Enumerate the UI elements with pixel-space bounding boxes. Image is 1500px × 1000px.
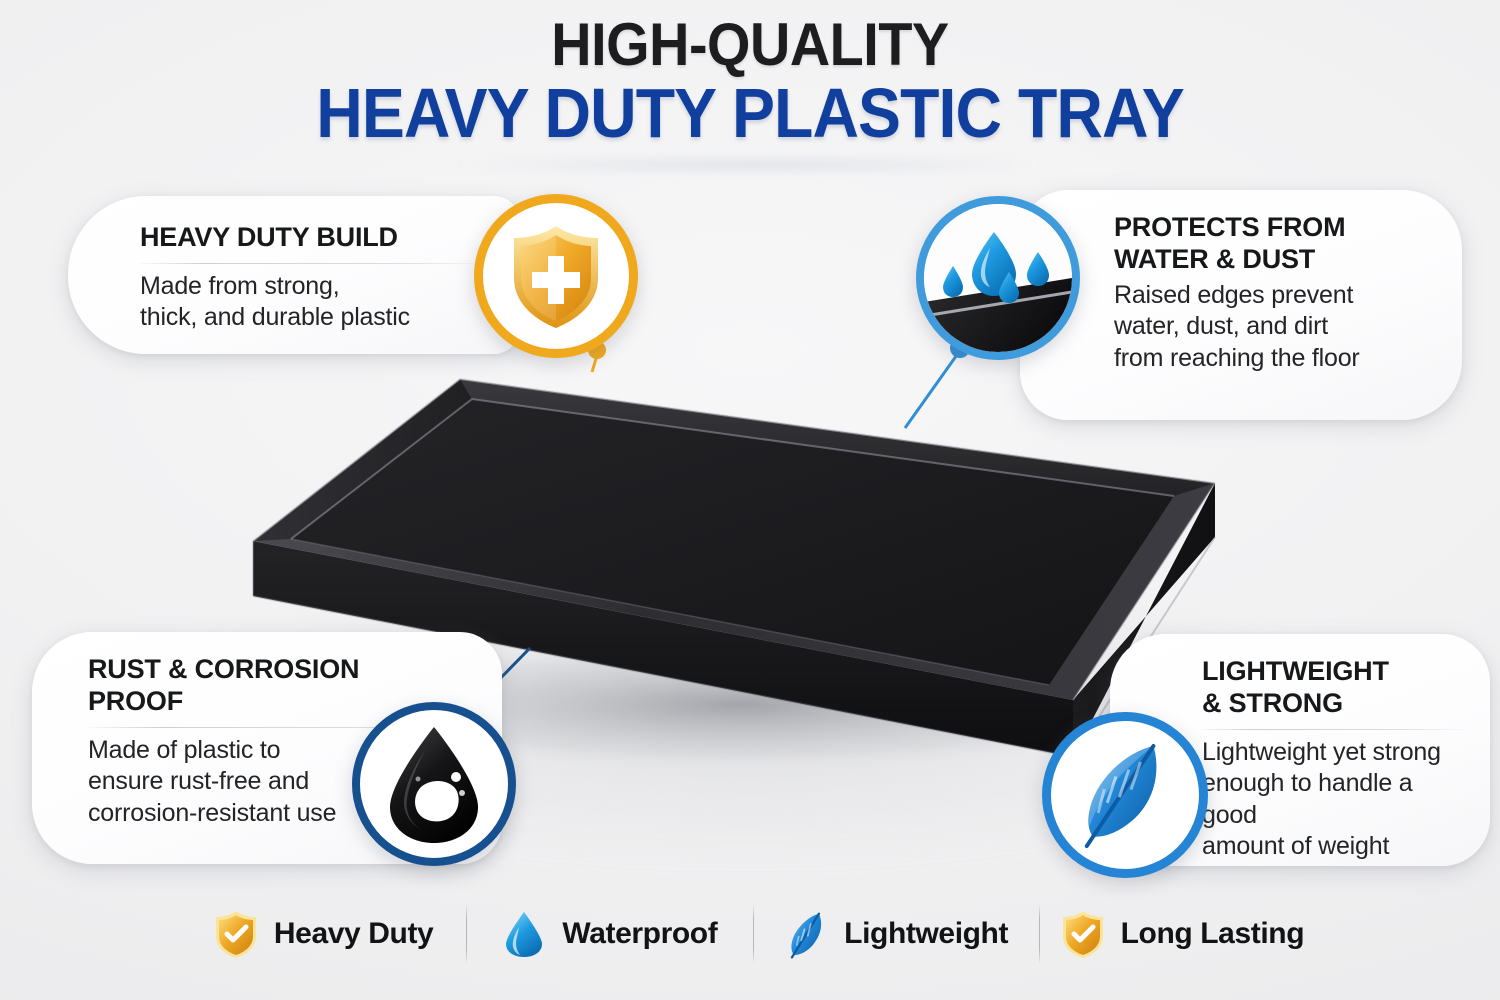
feather-icon	[1042, 712, 1208, 878]
oil-droplet-icon	[352, 702, 516, 866]
title-underglow	[330, 156, 1170, 174]
feature-strip: Heavy Duty Waterproof	[180, 896, 1325, 972]
feature-label: Lightweight	[844, 917, 1008, 951]
water-drop-icon	[501, 909, 547, 959]
callout-body-line-2: water, dust, and dirt	[1114, 311, 1436, 343]
callout-body-line-1: Made from strong,	[140, 271, 490, 303]
feature-label: Heavy Duty	[274, 917, 433, 951]
callout-body-line-3: amount of weight	[1202, 831, 1472, 863]
feature-item-long-lasting: Long Lasting	[1039, 896, 1325, 972]
water-droplets-icon	[916, 196, 1080, 360]
title-line-1: HIGH-QUALITY	[53, 14, 1448, 75]
callout-heading-line-1: PROTECTS FROM	[1114, 212, 1436, 244]
shield-check-icon	[213, 909, 259, 959]
callout-heading-line-2: & STRONG	[1202, 688, 1472, 720]
feature-item-waterproof: Waterproof	[466, 896, 752, 972]
callout-body-line-1: Lightweight yet strong	[1202, 737, 1472, 769]
callout-heading-line-2: WATER & DUST	[1114, 244, 1436, 276]
callout-heading-line-1: RUST & CORROSION	[88, 654, 478, 686]
callout-body-line-2: enough to handle a good	[1202, 768, 1472, 831]
title-line-2: HEAVY DUTY PLASTIC TRAY	[60, 77, 1440, 150]
page-title: HIGH-QUALITY HEAVY DUTY PLASTIC TRAY	[0, 14, 1500, 150]
feature-label: Long Lasting	[1121, 917, 1305, 951]
callout-body-line-2: thick, and durable plastic	[140, 302, 490, 334]
callout-heavy-duty-build: HEAVY DUTY BUILD Made from strong, thick…	[68, 196, 520, 354]
heading-divider	[140, 263, 490, 264]
feature-item-heavy-duty: Heavy Duty	[180, 896, 466, 972]
feather-icon	[783, 909, 829, 959]
shield-check-icon	[1060, 909, 1106, 959]
product-infographic: HIGH-QUALITY HEAVY DUTY PLASTIC TRAY	[0, 0, 1500, 1000]
shield-plus-icon	[474, 194, 638, 358]
callout-body-line-1: Raised edges prevent	[1114, 280, 1436, 312]
heading-divider	[1202, 729, 1472, 730]
feature-label: Waterproof	[562, 917, 717, 951]
callout-heading-line-1: LIGHTWEIGHT	[1202, 656, 1472, 688]
callout-body-line-3: from reaching the floor	[1114, 343, 1436, 375]
callout-protects-from-water-and-dust: PROTECTS FROM WATER & DUST Raised edges …	[1020, 190, 1462, 420]
callout-heading: HEAVY DUTY BUILD	[140, 222, 490, 254]
feature-item-lightweight: Lightweight	[753, 896, 1039, 972]
